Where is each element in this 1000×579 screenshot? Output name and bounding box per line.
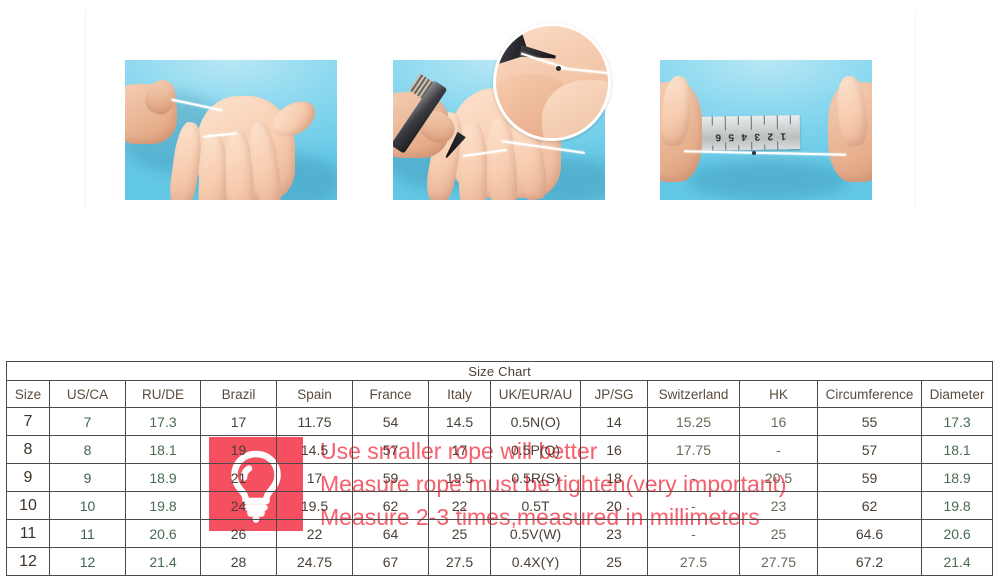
size-chart-cell: 17.75 — [648, 436, 740, 464]
size-chart-cell: 62 — [818, 492, 922, 520]
size-chart-cell: 27.75 — [740, 548, 818, 576]
string-mark-dot — [752, 151, 756, 155]
size-chart-cell: 21.4 — [922, 548, 993, 576]
size-chart-column-header: HK — [740, 381, 818, 408]
size-chart-cell: 10 — [50, 492, 126, 520]
size-chart-cell: 15.25 — [648, 408, 740, 436]
size-chart-cell: 67.2 — [818, 548, 922, 576]
magnified-string-shape — [558, 67, 611, 75]
size-chart-cell: 26 — [201, 520, 277, 548]
size-chart-column-header: Circumference — [818, 381, 922, 408]
size-chart-cell: 21 — [201, 464, 277, 492]
size-chart-cell: 12 — [7, 548, 50, 576]
size-chart-cell: 67 — [353, 548, 429, 576]
measuring-tips-block: Use smaller rope will better Measure rop… — [0, 215, 1000, 345]
size-chart-cell: 9 — [50, 464, 126, 492]
size-chart-cell: 14.5 — [429, 408, 491, 436]
size-chart-cell: 11 — [7, 520, 50, 548]
size-chart-cell: 19.8 — [126, 492, 201, 520]
size-chart-cell: 12 — [50, 548, 126, 576]
size-chart-cell: 9 — [7, 464, 50, 492]
measure-ruler-photo: 1 2 3 4 5 6 — [660, 60, 872, 200]
size-chart-cell: 19.8 — [922, 492, 993, 520]
table-row: 101019.82419.562220.5T20-236219.8 — [7, 492, 993, 520]
size-chart-cell: 8 — [7, 436, 50, 464]
size-chart-cell: 57 — [353, 436, 429, 464]
size-chart-cell: 23 — [581, 520, 648, 548]
size-chart-cell: 28 — [201, 548, 277, 576]
size-chart-cell: 19 — [201, 436, 277, 464]
size-chart-cell: 17 — [201, 408, 277, 436]
strip-divider-left — [85, 10, 86, 210]
size-chart-cell: 18.9 — [922, 464, 993, 492]
size-chart-cell: - — [648, 520, 740, 548]
table-row: 121221.42824.756727.50.4X(Y)2527.527.756… — [7, 548, 993, 576]
size-chart-column-header: JP/SG — [581, 381, 648, 408]
table-row: 7717.31711.755414.50.5N(O)1415.25165517.… — [7, 408, 993, 436]
size-chart-column-header: UK/EUR/AU — [491, 381, 581, 408]
size-chart-cell: 22 — [277, 520, 353, 548]
size-chart-title: Size Chart — [7, 362, 993, 381]
size-chart-cell: 59 — [353, 464, 429, 492]
size-chart-cell: 0.5R(S) — [491, 464, 581, 492]
measure-with-string-photo — [125, 60, 337, 200]
instruction-photo-strip: 1 2 3 4 5 6 — [0, 0, 1000, 215]
size-chart-column-header: Brazil — [201, 381, 277, 408]
size-chart-cell: 59 — [818, 464, 922, 492]
magnifier-inset — [493, 23, 611, 141]
size-chart-cell: 19.5 — [429, 464, 491, 492]
size-chart-cell: - — [648, 492, 740, 520]
size-chart-column-header: Spain — [277, 381, 353, 408]
size-chart-cell: 21.4 — [126, 548, 201, 576]
size-chart-cell: 18.1 — [922, 436, 993, 464]
size-chart-cell: 7 — [7, 408, 50, 436]
size-chart-cell: 17 — [277, 464, 353, 492]
strip-divider-right — [915, 10, 916, 210]
size-chart-header-row: SizeUS/CARU/DEBrazilSpainFranceItalyUK/E… — [7, 381, 993, 408]
size-chart-cell: 7 — [50, 408, 126, 436]
size-chart-cell: 16 — [740, 408, 818, 436]
size-chart-cell: 54 — [353, 408, 429, 436]
size-chart-table: Size Chart SizeUS/CARU/DEBrazilSpainFran… — [6, 361, 993, 576]
size-chart-cell: 64.6 — [818, 520, 922, 548]
size-chart-column-header: Diameter — [922, 381, 993, 408]
size-chart-cell: 18 — [581, 464, 648, 492]
size-chart-cell: 17.3 — [126, 408, 201, 436]
magnified-mark-dot — [556, 66, 561, 71]
size-chart-column-header: Italy — [429, 381, 491, 408]
size-chart-cell: 17.3 — [922, 408, 993, 436]
size-chart-cell: 22 — [429, 492, 491, 520]
size-chart-cell: 55 — [818, 408, 922, 436]
table-row: 8818.11914.557170.5P(Q)1617.75-5718.1 — [7, 436, 993, 464]
size-chart-section: Size Chart SizeUS/CARU/DEBrazilSpainFran… — [6, 361, 992, 576]
size-chart-cell: 23 — [740, 492, 818, 520]
size-chart-cell: 25 — [581, 548, 648, 576]
photo-shadow — [688, 160, 848, 200]
size-chart-cell: 20.6 — [922, 520, 993, 548]
size-chart-cell: 10 — [7, 492, 50, 520]
size-chart-cell: - — [740, 436, 818, 464]
size-chart-cell: 0.5P(Q) — [491, 436, 581, 464]
size-chart-cell: 62 — [353, 492, 429, 520]
size-chart-cell: 0.4X(Y) — [491, 548, 581, 576]
size-chart-title-row: Size Chart — [7, 362, 993, 381]
size-chart-cell: 64 — [353, 520, 429, 548]
size-chart-cell: 11.75 — [277, 408, 353, 436]
size-chart-cell: 25 — [740, 520, 818, 548]
size-chart-cell: 20.6 — [126, 520, 201, 548]
size-chart-cell: 57 — [818, 436, 922, 464]
size-chart-cell: 20 — [581, 492, 648, 520]
size-chart-head: Size Chart SizeUS/CARU/DEBrazilSpainFran… — [7, 362, 993, 408]
table-row: 111120.6262264250.5V(W)23-2564.620.6 — [7, 520, 993, 548]
size-chart-cell: 24.75 — [277, 548, 353, 576]
size-chart-cell: 14 — [581, 408, 648, 436]
ruler-shape: 1 2 3 4 5 6 — [690, 115, 801, 151]
size-chart-cell: 11 — [50, 520, 126, 548]
size-chart-cell: 27.5 — [429, 548, 491, 576]
size-chart-cell: 18.1 — [126, 436, 201, 464]
size-chart-cell: 0.5N(O) — [491, 408, 581, 436]
size-chart-column-header: Switzerland — [648, 381, 740, 408]
finger-shape — [459, 122, 487, 200]
table-row: 9918.921175919.50.5R(S)18-20.55918.9 — [7, 464, 993, 492]
size-chart-cell: 8 — [50, 436, 126, 464]
size-chart-cell: - — [648, 464, 740, 492]
size-chart-column-header: France — [353, 381, 429, 408]
size-chart-cell: 0.5V(W) — [491, 520, 581, 548]
size-chart-body: 7717.31711.755414.50.5N(O)1415.25165517.… — [7, 408, 993, 576]
size-chart-column-header: Size — [7, 381, 50, 408]
size-chart-cell: 25 — [429, 520, 491, 548]
size-chart-cell: 24 — [201, 492, 277, 520]
size-chart-column-header: US/CA — [50, 381, 126, 408]
size-chart-cell: 18.9 — [126, 464, 201, 492]
size-chart-column-header: RU/DE — [126, 381, 201, 408]
size-chart-cell: 27.5 — [648, 548, 740, 576]
size-chart-cell: 16 — [581, 436, 648, 464]
size-chart-cell: 20.5 — [740, 464, 818, 492]
size-chart-cell: 14.5 — [277, 436, 353, 464]
size-chart-cell: 19.5 — [277, 492, 353, 520]
size-chart-cell: 0.5T — [491, 492, 581, 520]
size-chart-cell: 17 — [429, 436, 491, 464]
